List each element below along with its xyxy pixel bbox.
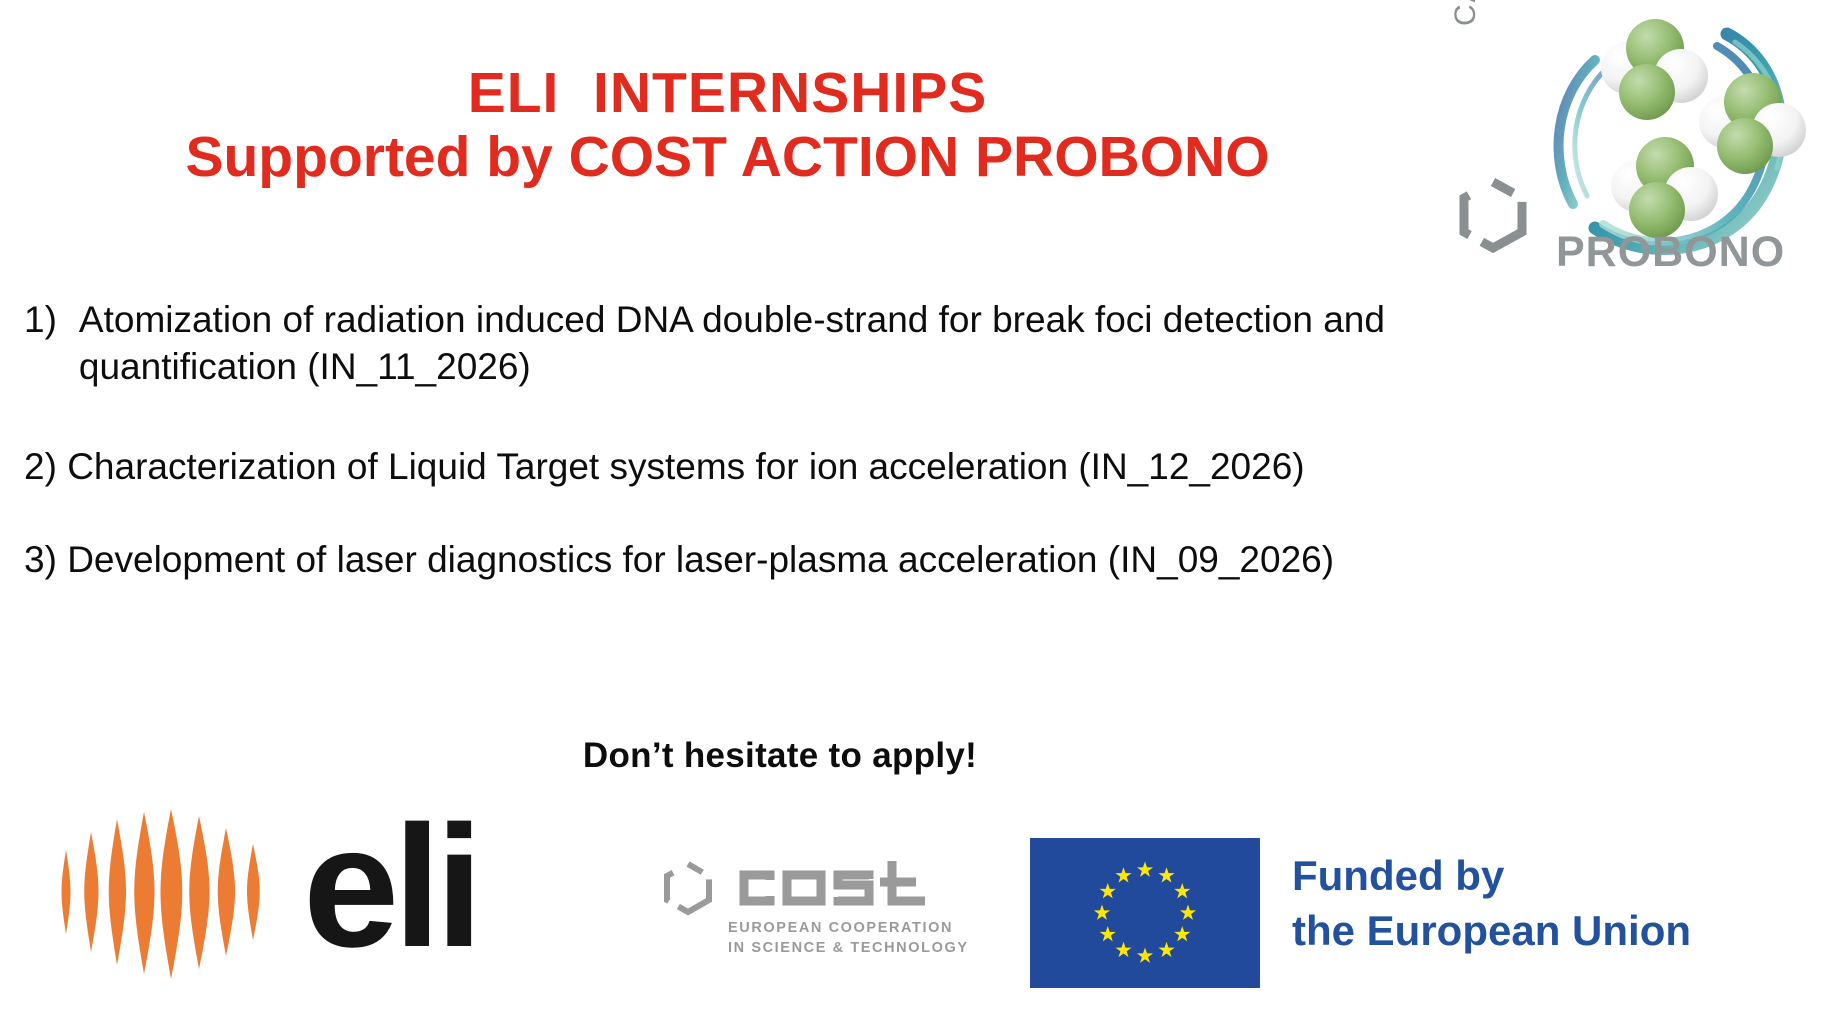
list-item-number: 3) <box>24 539 57 580</box>
probono-hexagon-icon <box>1455 177 1531 253</box>
eli-logo: eli <box>58 792 518 987</box>
eu-flag-icon <box>1030 838 1260 988</box>
list-item-number: 1) <box>24 296 57 391</box>
eu-funding-line1: Funded by <box>1292 849 1691 904</box>
cost-hexagon-icon <box>660 860 716 916</box>
presentation-slide: ELI INTERNSHIPS Supported by COST ACTION… <box>0 0 1839 1027</box>
list-item: 3) Development of laser diagnostics for … <box>24 536 1814 583</box>
list-item-text: Characterization of Liquid Target system… <box>67 446 1304 487</box>
internship-list: 1) Atomization of radiation induced DNA … <box>24 296 1814 629</box>
probono-action-code: CA 21128 <box>1449 0 1483 26</box>
cost-subtitle: EUROPEAN COOPERATION IN SCIENCE & TECHNO… <box>728 918 969 958</box>
list-item-body: Atomization of radiation induced DNA dou… <box>79 296 1519 391</box>
eu-funding-text: Funded by the European Union <box>1292 849 1691 958</box>
title-line-2: Supported by COST ACTION PROBONO <box>0 126 1455 190</box>
list-item: 2) Characterization of Liquid Target sys… <box>24 443 1814 490</box>
list-item-text-line1: Atomization of radiation induced DNA dou… <box>79 299 1385 340</box>
eu-funding-line2: the European Union <box>1292 904 1691 959</box>
eli-wave-icon <box>58 792 283 987</box>
cost-subtitle-line2: IN SCIENCE & TECHNOLOGY <box>728 938 969 958</box>
cost-wordmark-icon <box>726 856 931 914</box>
list-item: 1) Atomization of radiation induced DNA … <box>24 296 1814 391</box>
probono-logo: CA 21128 <box>1439 8 1829 283</box>
call-to-action-text: Don’t hesitate to apply! <box>0 736 1560 776</box>
cost-subtitle-line1: EUROPEAN COOPERATION <box>728 918 969 938</box>
eu-stars-icon <box>1030 838 1260 988</box>
list-item-number: 2) <box>24 446 57 487</box>
slide-title: ELI INTERNSHIPS Supported by COST ACTION… <box>0 62 1455 190</box>
title-line-1: ELI INTERNSHIPS <box>0 62 1455 126</box>
eli-wordmark: eli <box>303 800 477 973</box>
list-item-text: Development of laser diagnostics for las… <box>67 539 1334 580</box>
cost-logo: EUROPEAN COOPERATION IN SCIENCE & TECHNO… <box>660 856 930 966</box>
list-item-text-line2: quantification (IN_11_2026) <box>79 343 1519 390</box>
probono-wordmark: PROBONO <box>1556 228 1785 277</box>
